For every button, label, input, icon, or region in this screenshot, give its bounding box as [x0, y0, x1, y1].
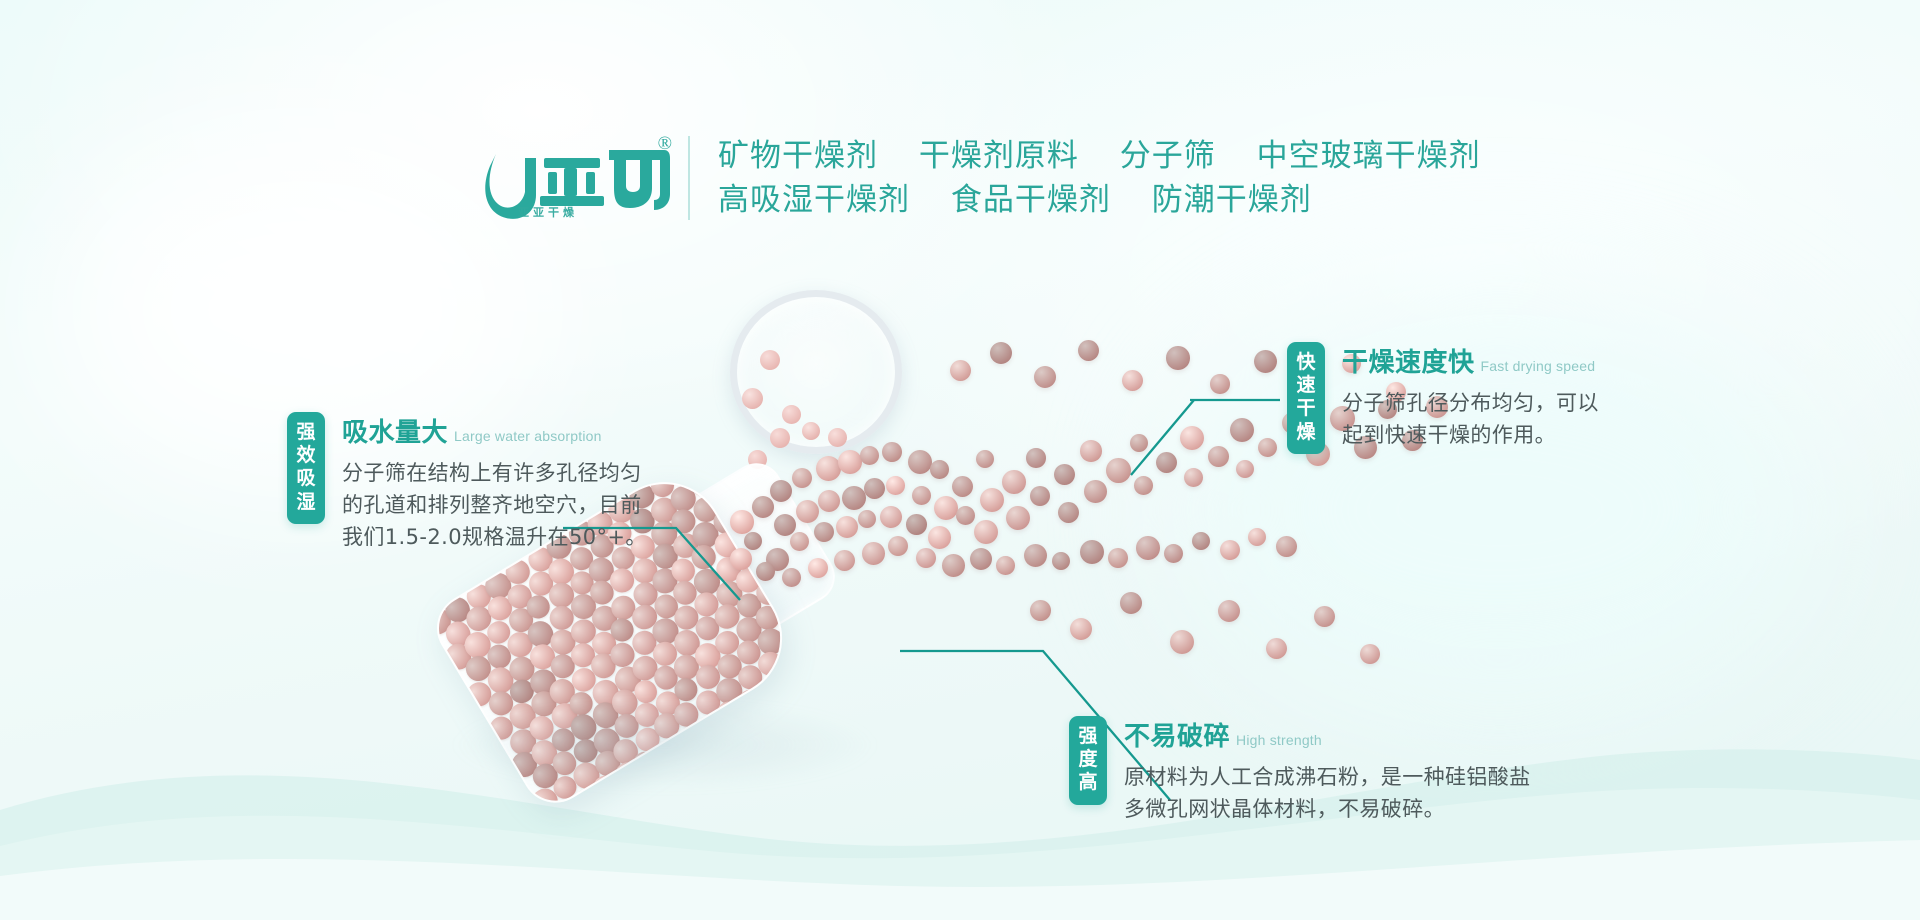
- bead: [1024, 544, 1047, 567]
- bead: [814, 522, 834, 542]
- badge-char: 干: [1287, 397, 1325, 420]
- bead: [1192, 532, 1210, 550]
- callout-high-strength[interactable]: 强 度 高 不易破碎 High strength 原材料为人工合成沸石粉，是一种…: [1069, 716, 1531, 826]
- bead: [1248, 528, 1266, 546]
- bead: [880, 506, 902, 528]
- bead: [1058, 502, 1079, 523]
- badge-char: 吸: [287, 467, 325, 490]
- bead: [1166, 346, 1190, 370]
- bead: [730, 548, 752, 570]
- bead: [1026, 448, 1046, 468]
- bead: [770, 428, 790, 448]
- bead: [1070, 618, 1092, 640]
- header-divider: [688, 136, 690, 220]
- keyword-item[interactable]: 防潮干燥剂: [1152, 182, 1312, 218]
- brand-mark-icon: [478, 132, 678, 224]
- logo[interactable]: ® 亚亚干燥: [478, 132, 678, 224]
- bead: [742, 388, 763, 409]
- bead: [1084, 480, 1107, 503]
- bead: [862, 542, 885, 565]
- bead: [1360, 644, 1380, 664]
- bead: [1276, 536, 1297, 557]
- bead: [974, 520, 998, 544]
- keyword-item[interactable]: 干燥剂原料: [919, 138, 1079, 174]
- callout-body: 原材料为人工合成沸石粉，是一种硅铝酸盐 多微孔网状晶体材料，不易破碎。: [1124, 762, 1531, 826]
- bead: [980, 488, 1004, 512]
- bead: [1122, 370, 1143, 391]
- callout-body: 分子筛在结构上有许多孔径均匀 的孔道和排列整齐地空穴，目前 我们1.5-2.0规…: [342, 458, 647, 554]
- callout-title-en: Large water absorption: [454, 428, 602, 444]
- callout-text: 干燥速度快 Fast drying speed 分子筛孔径分布均匀，可以 起到快…: [1342, 342, 1599, 452]
- badge-high-strength: 强 度 高: [1069, 716, 1107, 805]
- bead: [888, 536, 908, 556]
- bead: [1002, 470, 1026, 494]
- keyword-line-2: 高吸湿干燥剂 食品干燥剂 防潮干燥剂: [718, 178, 1481, 222]
- bead: [1184, 468, 1203, 487]
- callout-fast-drying-speed[interactable]: 快 速 干 燥 干燥速度快 Fast drying speed 分子筛孔径分布均…: [1287, 342, 1599, 454]
- bead: [760, 350, 780, 370]
- bead: [1258, 438, 1277, 457]
- logo-subtext: 亚亚干燥: [518, 204, 578, 220]
- bead: [834, 550, 855, 571]
- keyword-item[interactable]: 矿物干燥剂: [718, 138, 878, 174]
- callout-title-cn: 吸水量大: [342, 412, 448, 449]
- bead: [1052, 552, 1070, 570]
- bead: [1180, 426, 1204, 450]
- bead: [1130, 434, 1148, 452]
- callout-text: 不易破碎 High strength 原材料为人工合成沸石粉，是一种硅铝酸盐 多…: [1124, 716, 1531, 826]
- bead: [1080, 540, 1104, 564]
- bead: [950, 360, 971, 381]
- badge-char: 强: [287, 421, 325, 444]
- bead: [1054, 464, 1075, 485]
- bead: [792, 468, 812, 488]
- bead: [970, 548, 992, 570]
- bead: [1136, 536, 1160, 560]
- bead: [952, 476, 973, 497]
- bead: [1034, 366, 1056, 388]
- badge-char: 高: [1069, 771, 1107, 794]
- badge-char: 速: [1287, 374, 1325, 397]
- bottle-shadow: [450, 700, 880, 790]
- bead: [930, 460, 949, 479]
- bead: [770, 480, 792, 502]
- badge-char: 湿: [287, 491, 325, 514]
- bead: [838, 450, 862, 474]
- bead: [1170, 630, 1194, 654]
- badge-char: 效: [287, 444, 325, 467]
- bead: [860, 446, 879, 465]
- badge-strong-absorption: 强 效 吸 湿: [287, 412, 325, 524]
- bead: [1080, 440, 1102, 462]
- bead: [928, 526, 951, 549]
- callout-body-line: 我们1.5-2.0规格温升在50°+。: [342, 522, 647, 554]
- keyword-item[interactable]: 食品干燥剂: [951, 182, 1111, 218]
- bead: [1220, 540, 1240, 560]
- bead: [1266, 638, 1287, 659]
- bead: [976, 450, 994, 468]
- bead: [1254, 350, 1277, 373]
- callout-body-line: 分子筛在结构上有许多孔径均匀: [342, 458, 647, 490]
- callout-body: 分子筛孔径分布均匀，可以 起到快速干燥的作用。: [1342, 388, 1599, 452]
- bead: [916, 548, 936, 568]
- callout-body-line: 分子筛孔径分布均匀，可以: [1342, 388, 1599, 420]
- bead: [842, 486, 866, 510]
- callout-body-line: 多微孔网状晶体材料，不易破碎。: [1124, 794, 1531, 826]
- banner-stage: ® 亚亚干燥 矿物干燥剂 干燥剂原料 分子筛 中空玻璃干燥剂 高吸湿干燥剂 食品…: [0, 0, 1920, 920]
- bead: [1030, 600, 1051, 621]
- callout-title-en: High strength: [1236, 732, 1322, 748]
- keyword-item[interactable]: 高吸湿干燥剂: [718, 182, 910, 218]
- bead: [687, 460, 719, 477]
- callout-title-row: 干燥速度快 Fast drying speed: [1342, 342, 1599, 379]
- bead: [1210, 374, 1230, 394]
- bead: [1134, 476, 1153, 495]
- callout-title-cn: 不易破碎: [1124, 716, 1230, 753]
- callout-body-line: 原材料为人工合成沸石粉，是一种硅铝酸盐: [1124, 762, 1531, 794]
- badge-char: 燥: [1287, 421, 1325, 444]
- bead: [818, 490, 840, 512]
- bead: [1006, 506, 1030, 530]
- bead: [886, 476, 905, 495]
- callout-large-water-absorption[interactable]: 强 效 吸 湿 吸水量大 Large water absorption 分子筛在…: [287, 412, 647, 554]
- bead: [912, 486, 931, 505]
- keyword-line-1: 矿物干燥剂 干燥剂原料 分子筛 中空玻璃干燥剂: [718, 134, 1481, 178]
- callout-text: 吸水量大 Large water absorption 分子筛在结构上有许多孔径…: [342, 412, 647, 554]
- bead: [906, 514, 927, 535]
- callout-title-row: 不易破碎 High strength: [1124, 716, 1531, 753]
- bead: [882, 442, 902, 462]
- callout-title-cn: 干燥速度快: [1342, 342, 1475, 379]
- bead: [1314, 606, 1335, 627]
- callout-body-line: 的孔道和排列整齐地空穴，目前: [342, 490, 647, 522]
- bead: [1156, 452, 1177, 473]
- bead: [828, 428, 847, 447]
- bead: [864, 478, 885, 499]
- badge-char: 强: [1069, 725, 1107, 748]
- callout-body-line: 起到快速干燥的作用。: [1342, 420, 1599, 452]
- bead: [756, 562, 775, 581]
- bead: [996, 556, 1015, 575]
- bead: [1236, 460, 1254, 478]
- bead: [1078, 340, 1099, 361]
- bead: [908, 450, 932, 474]
- bead: [1230, 418, 1254, 442]
- registered-trademark-icon: ®: [658, 134, 672, 153]
- badge-fast-drying: 快 速 干 燥: [1287, 342, 1325, 454]
- bead: [1208, 446, 1229, 467]
- keyword-item[interactable]: 分子筛: [1120, 138, 1216, 174]
- badge-char: 快: [1287, 351, 1325, 374]
- bead: [1030, 486, 1050, 506]
- bead: [744, 532, 762, 550]
- keyword-list: 矿物干燥剂 干燥剂原料 分子筛 中空玻璃干燥剂 高吸湿干燥剂 食品干燥剂 防潮干…: [718, 132, 1481, 222]
- bead: [802, 422, 820, 440]
- bead: [1120, 592, 1142, 614]
- bead: [956, 506, 975, 525]
- bead: [1218, 600, 1240, 622]
- callout-title-row: 吸水量大 Large water absorption: [342, 412, 647, 449]
- bead: [808, 558, 828, 578]
- bead: [1106, 458, 1131, 483]
- bead: [990, 342, 1012, 364]
- bead: [782, 405, 801, 424]
- bead: [942, 554, 965, 577]
- callout-title-en: Fast drying speed: [1481, 358, 1596, 374]
- bead: [1164, 544, 1183, 563]
- badge-char: 度: [1069, 748, 1107, 771]
- bead: [790, 532, 809, 551]
- bead: [1108, 548, 1128, 568]
- bead: [796, 500, 819, 523]
- bead: [858, 510, 876, 528]
- keyword-item[interactable]: 中空玻璃干燥剂: [1257, 138, 1481, 174]
- bead: [730, 510, 754, 534]
- bead: [752, 496, 774, 518]
- bead: [836, 516, 858, 538]
- bead: [934, 496, 958, 520]
- header: ® 亚亚干燥 矿物干燥剂 干燥剂原料 分子筛 中空玻璃干燥剂 高吸湿干燥剂 食品…: [478, 132, 1481, 224]
